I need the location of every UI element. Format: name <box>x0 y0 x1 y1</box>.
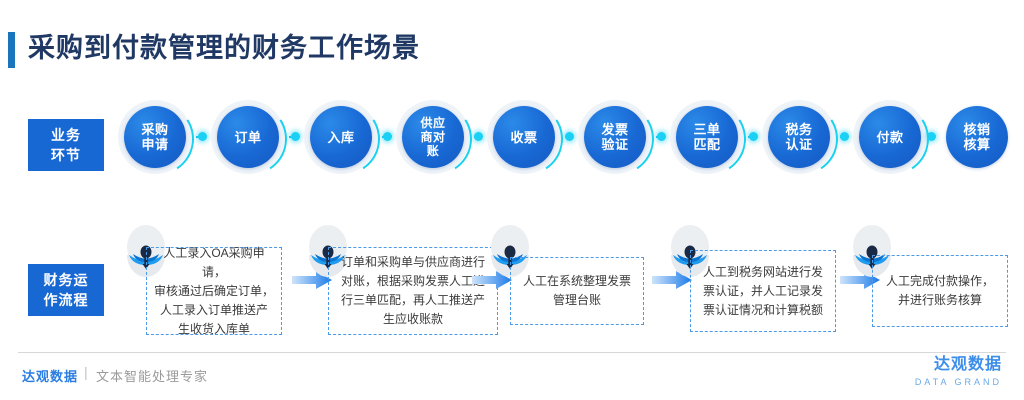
node-label-line: 供应 <box>410 116 456 130</box>
node-label-line: 发票 <box>592 122 638 137</box>
footer-logo-english: DATA GRAND <box>915 376 1002 388</box>
node-connector <box>289 134 298 140</box>
node-label-line: 申请 <box>132 137 178 152</box>
flow-step-text-line: 订单和采购单与供应商进行 <box>341 253 485 272</box>
node-label-line: 认证 <box>776 137 822 152</box>
node-label-line: 税务 <box>776 122 822 137</box>
node-label-line: 商对 <box>410 130 456 144</box>
node-label: 入库 <box>318 130 364 145</box>
node-label: 税务认证 <box>776 122 822 152</box>
node-disc: 核销核算 <box>946 106 1008 168</box>
node-label: 发票验证 <box>592 122 638 152</box>
connector-dot-icon <box>927 132 936 141</box>
footer-tagline: 文本智能处理专家 <box>96 366 208 385</box>
node-label-line: 验证 <box>592 137 638 152</box>
footer-divider-rule <box>18 352 1006 353</box>
node-disc: 采购申请 <box>124 106 186 168</box>
flow-step-box-step-tax[interactable]: 人工到税务网站进行发票认证，并人工记录发票认证情况和计算税额 <box>690 250 836 332</box>
flow-step-text: 人工完成付款操作，并进行账务核算 <box>886 272 994 310</box>
node-connector <box>748 134 756 140</box>
flow-step-box-step-invoice-ledger[interactable]: 人工在系统整理发票管理台账 <box>510 257 644 325</box>
node-label-line: 账 <box>410 144 456 158</box>
connector-dot-icon <box>565 132 574 141</box>
node-label-line: 收票 <box>501 130 547 145</box>
node-disc: 三单匹配 <box>676 106 738 168</box>
node-label-line: 入库 <box>318 130 364 145</box>
flow-step-box-step-purchase[interactable]: 人工录入OA采购申请，审核通过后确定订单，人工录入订单推送产生收货入库单 <box>146 247 282 335</box>
node-label-line: 订单 <box>225 130 271 145</box>
node-connector <box>474 134 481 140</box>
process-node-row: 采购申请订单入库供应商对账收票发票验证三单匹配税务认证付款核销核算 <box>0 100 1024 195</box>
process-node-warehousing[interactable]: 入库 <box>304 100 378 174</box>
process-node-supplier-reconciliation[interactable]: 供应商对账 <box>396 100 470 174</box>
flow-step-text-line: 对账，根据采购发票人工进 <box>341 272 485 291</box>
footer-separator: | <box>84 364 88 380</box>
process-node-order[interactable]: 订单 <box>211 100 285 174</box>
node-label-line: 核销 <box>954 122 1000 137</box>
node-connector <box>656 134 664 140</box>
process-node-tax-certification[interactable]: 税务认证 <box>762 100 836 174</box>
node-label: 核销核算 <box>954 122 1000 152</box>
flow-step-text-line: 人工在系统整理发票 <box>523 272 631 291</box>
node-disc: 供应商对账 <box>402 106 464 168</box>
node-label-line: 匹配 <box>684 137 730 152</box>
node-disc: 税务认证 <box>768 106 830 168</box>
connector-dot-icon <box>474 132 483 141</box>
node-label: 收票 <box>501 130 547 145</box>
node-label: 采购申请 <box>132 122 178 152</box>
finance-flow-row: 人工录入OA采购申请，审核通过后确定订单，人工录入订单推送产生收货入库单订单和采… <box>0 225 1024 340</box>
process-node-invoice-verification[interactable]: 发票验证 <box>578 100 652 174</box>
connector-dot-icon <box>291 132 300 141</box>
process-node-receive-invoice[interactable]: 收票 <box>487 100 561 174</box>
node-disc: 收票 <box>493 106 555 168</box>
node-connector <box>931 134 934 140</box>
flow-step-text-line: 并进行账务核算 <box>886 291 994 310</box>
footer-logo-chinese: 达观数据 <box>915 356 1002 374</box>
connector-dot-icon <box>657 132 666 141</box>
flow-step-text-line: 审核通过后确定订单， <box>153 282 275 301</box>
flow-step-text: 人工在系统整理发票管理台账 <box>523 272 631 310</box>
flow-step-text: 人工到税务网站进行发票认证，并人工记录发票认证情况和计算税额 <box>703 263 823 320</box>
process-node-three-way-match[interactable]: 三单匹配 <box>670 100 744 174</box>
process-node-writeoff-accounting[interactable]: 核销核算 <box>940 100 1014 174</box>
node-connector <box>840 134 847 140</box>
title-accent-bar <box>8 32 15 68</box>
flow-step-text-line: 人工到税务网站进行发 <box>703 263 823 282</box>
title-bar: 采购到付款管理的财务工作场景 <box>0 14 1024 60</box>
footer-logo: 达观数据 DATA GRAND <box>915 356 1002 388</box>
node-disc: 入库 <box>310 106 372 168</box>
flow-step-box-step-payment[interactable]: 人工完成付款操作，并进行账务核算 <box>872 255 1008 327</box>
page-title: 采购到付款管理的财务工作场景 <box>28 26 420 65</box>
flow-step-text: 订单和采购单与供应商进行对账，根据采购发票人工进行三单匹配，再人工推送产生应收账… <box>341 253 485 329</box>
footer-brand: 达观数据 <box>22 366 78 385</box>
node-label-line: 三单 <box>684 122 730 137</box>
node-connector <box>382 134 390 140</box>
node-connector <box>565 134 572 140</box>
flow-step-text-line: 生收货入库单 <box>153 320 275 339</box>
flow-step-text-line: 生应收账款 <box>341 310 485 329</box>
node-disc: 发票验证 <box>584 106 646 168</box>
flow-step-text-line: 票认证情况和计算税额 <box>703 301 823 320</box>
flow-step-text-line: 票认证，并人工记录发 <box>703 282 823 301</box>
connector-dot-icon <box>198 132 207 141</box>
flow-step-text-line: 人工录入OA采购申请， <box>153 244 275 282</box>
process-node-payment[interactable]: 付款 <box>853 100 927 174</box>
flow-step-text: 人工录入OA采购申请，审核通过后确定订单，人工录入订单推送产生收货入库单 <box>153 244 275 339</box>
node-connector <box>196 134 205 140</box>
flow-step-text-line: 行三单匹配，再人工推送产 <box>341 291 485 310</box>
flow-step-box-step-reconcile[interactable]: 订单和采购单与供应商进行对账，根据采购发票人工进行三单匹配，再人工推送产生应收账… <box>328 247 498 335</box>
node-label: 订单 <box>225 130 271 145</box>
node-label-line: 付款 <box>867 130 913 145</box>
node-label: 供应商对账 <box>410 116 456 158</box>
process-node-purchase-request[interactable]: 采购申请 <box>118 100 192 174</box>
node-disc: 订单 <box>217 106 279 168</box>
flow-step-text-line: 管理台账 <box>523 291 631 310</box>
connector-dot-icon <box>749 132 758 141</box>
connector-dot-icon <box>840 132 849 141</box>
flow-step-text-line: 人工完成付款操作， <box>886 272 994 291</box>
node-label: 三单匹配 <box>684 122 730 152</box>
node-label-line: 核算 <box>954 137 1000 152</box>
node-label-line: 采购 <box>132 122 178 137</box>
node-label: 付款 <box>867 130 913 145</box>
flow-step-text-line: 人工录入订单推送产 <box>153 301 275 320</box>
node-disc: 付款 <box>859 106 921 168</box>
connector-dot-icon <box>383 132 392 141</box>
